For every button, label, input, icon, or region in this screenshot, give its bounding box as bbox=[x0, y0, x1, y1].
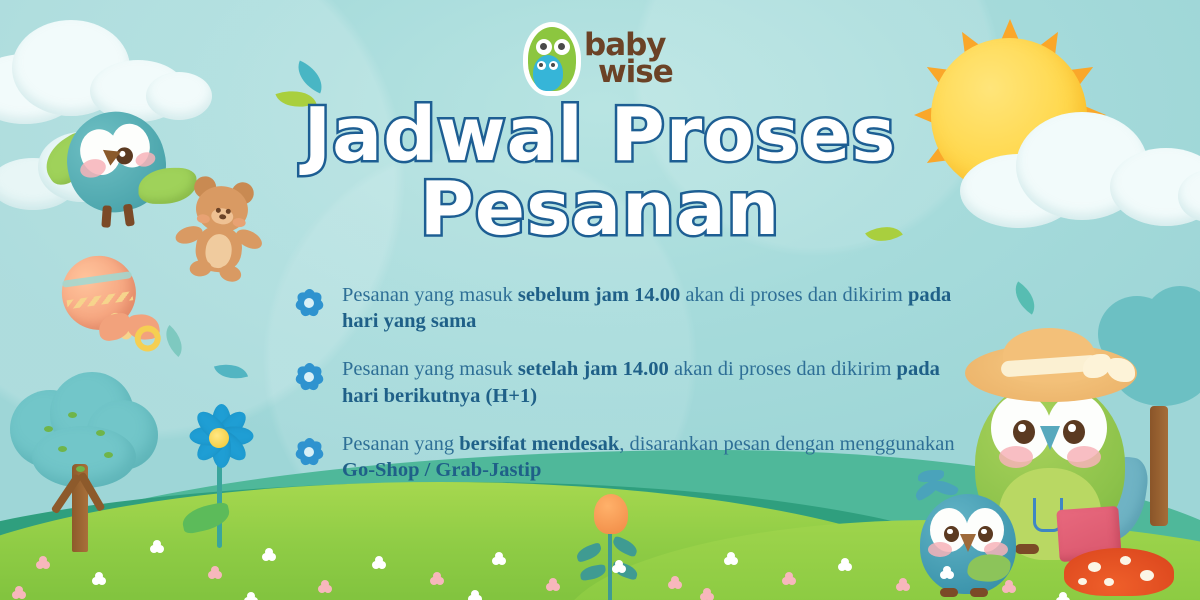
body-text: Pesanan yang masuk bbox=[342, 284, 518, 306]
list-item-text: Pesanan yang masuk setelah jam 14.00 aka… bbox=[342, 356, 972, 408]
body-text: , disarankan pesan dengan menggunakan bbox=[619, 433, 954, 455]
flower-bullet-icon bbox=[292, 360, 326, 394]
emphasis-text: Go-Shop / Grab-Jastip bbox=[342, 459, 541, 481]
emphasis-text: sebelum jam 14.00 bbox=[518, 284, 680, 306]
emphasis-text: bersifat mendesak bbox=[459, 433, 619, 455]
body-text: Pesanan yang bbox=[342, 433, 459, 455]
emphasis-text: setelah jam 14.00 bbox=[518, 358, 669, 380]
babywise-logo: baby wise bbox=[524, 22, 676, 96]
body-text: akan di proses dan dikirim bbox=[680, 284, 908, 306]
list-item-text: Pesanan yang bersifat mendesak, disarank… bbox=[342, 431, 972, 483]
title-line-1: Jadwal Proses bbox=[0, 100, 1200, 170]
list-item: Pesanan yang masuk setelah jam 14.00 aka… bbox=[292, 356, 972, 408]
promo-banner: baby wise Jadwal Proses Pesanan Pesanan … bbox=[0, 0, 1200, 600]
list-item: Pesanan yang bersifat mendesak, disarank… bbox=[292, 431, 972, 483]
bullet-list: Pesanan yang masuk sebelum jam 14.00 aka… bbox=[292, 282, 972, 505]
flower-bullet-icon bbox=[292, 286, 326, 320]
flower-bullet-icon bbox=[292, 435, 326, 469]
bullet-center bbox=[304, 298, 314, 308]
title-line-2: Pesanan bbox=[0, 174, 1200, 244]
list-item: Pesanan yang masuk sebelum jam 14.00 aka… bbox=[292, 282, 972, 334]
owl-logo-icon bbox=[524, 23, 580, 95]
body-text: akan di proses dan dikirim bbox=[669, 358, 897, 380]
logo-text-wise: wise bbox=[598, 59, 673, 86]
list-item-text: Pesanan yang masuk sebelum jam 14.00 aka… bbox=[342, 282, 972, 334]
banner-content: baby wise Jadwal Proses Pesanan Pesanan … bbox=[0, 0, 1200, 600]
logo-wordmark: baby wise bbox=[584, 32, 673, 87]
bullet-center bbox=[304, 447, 314, 457]
page-title: Jadwal Proses Pesanan bbox=[0, 100, 1200, 245]
body-text: Pesanan yang masuk bbox=[342, 358, 518, 380]
